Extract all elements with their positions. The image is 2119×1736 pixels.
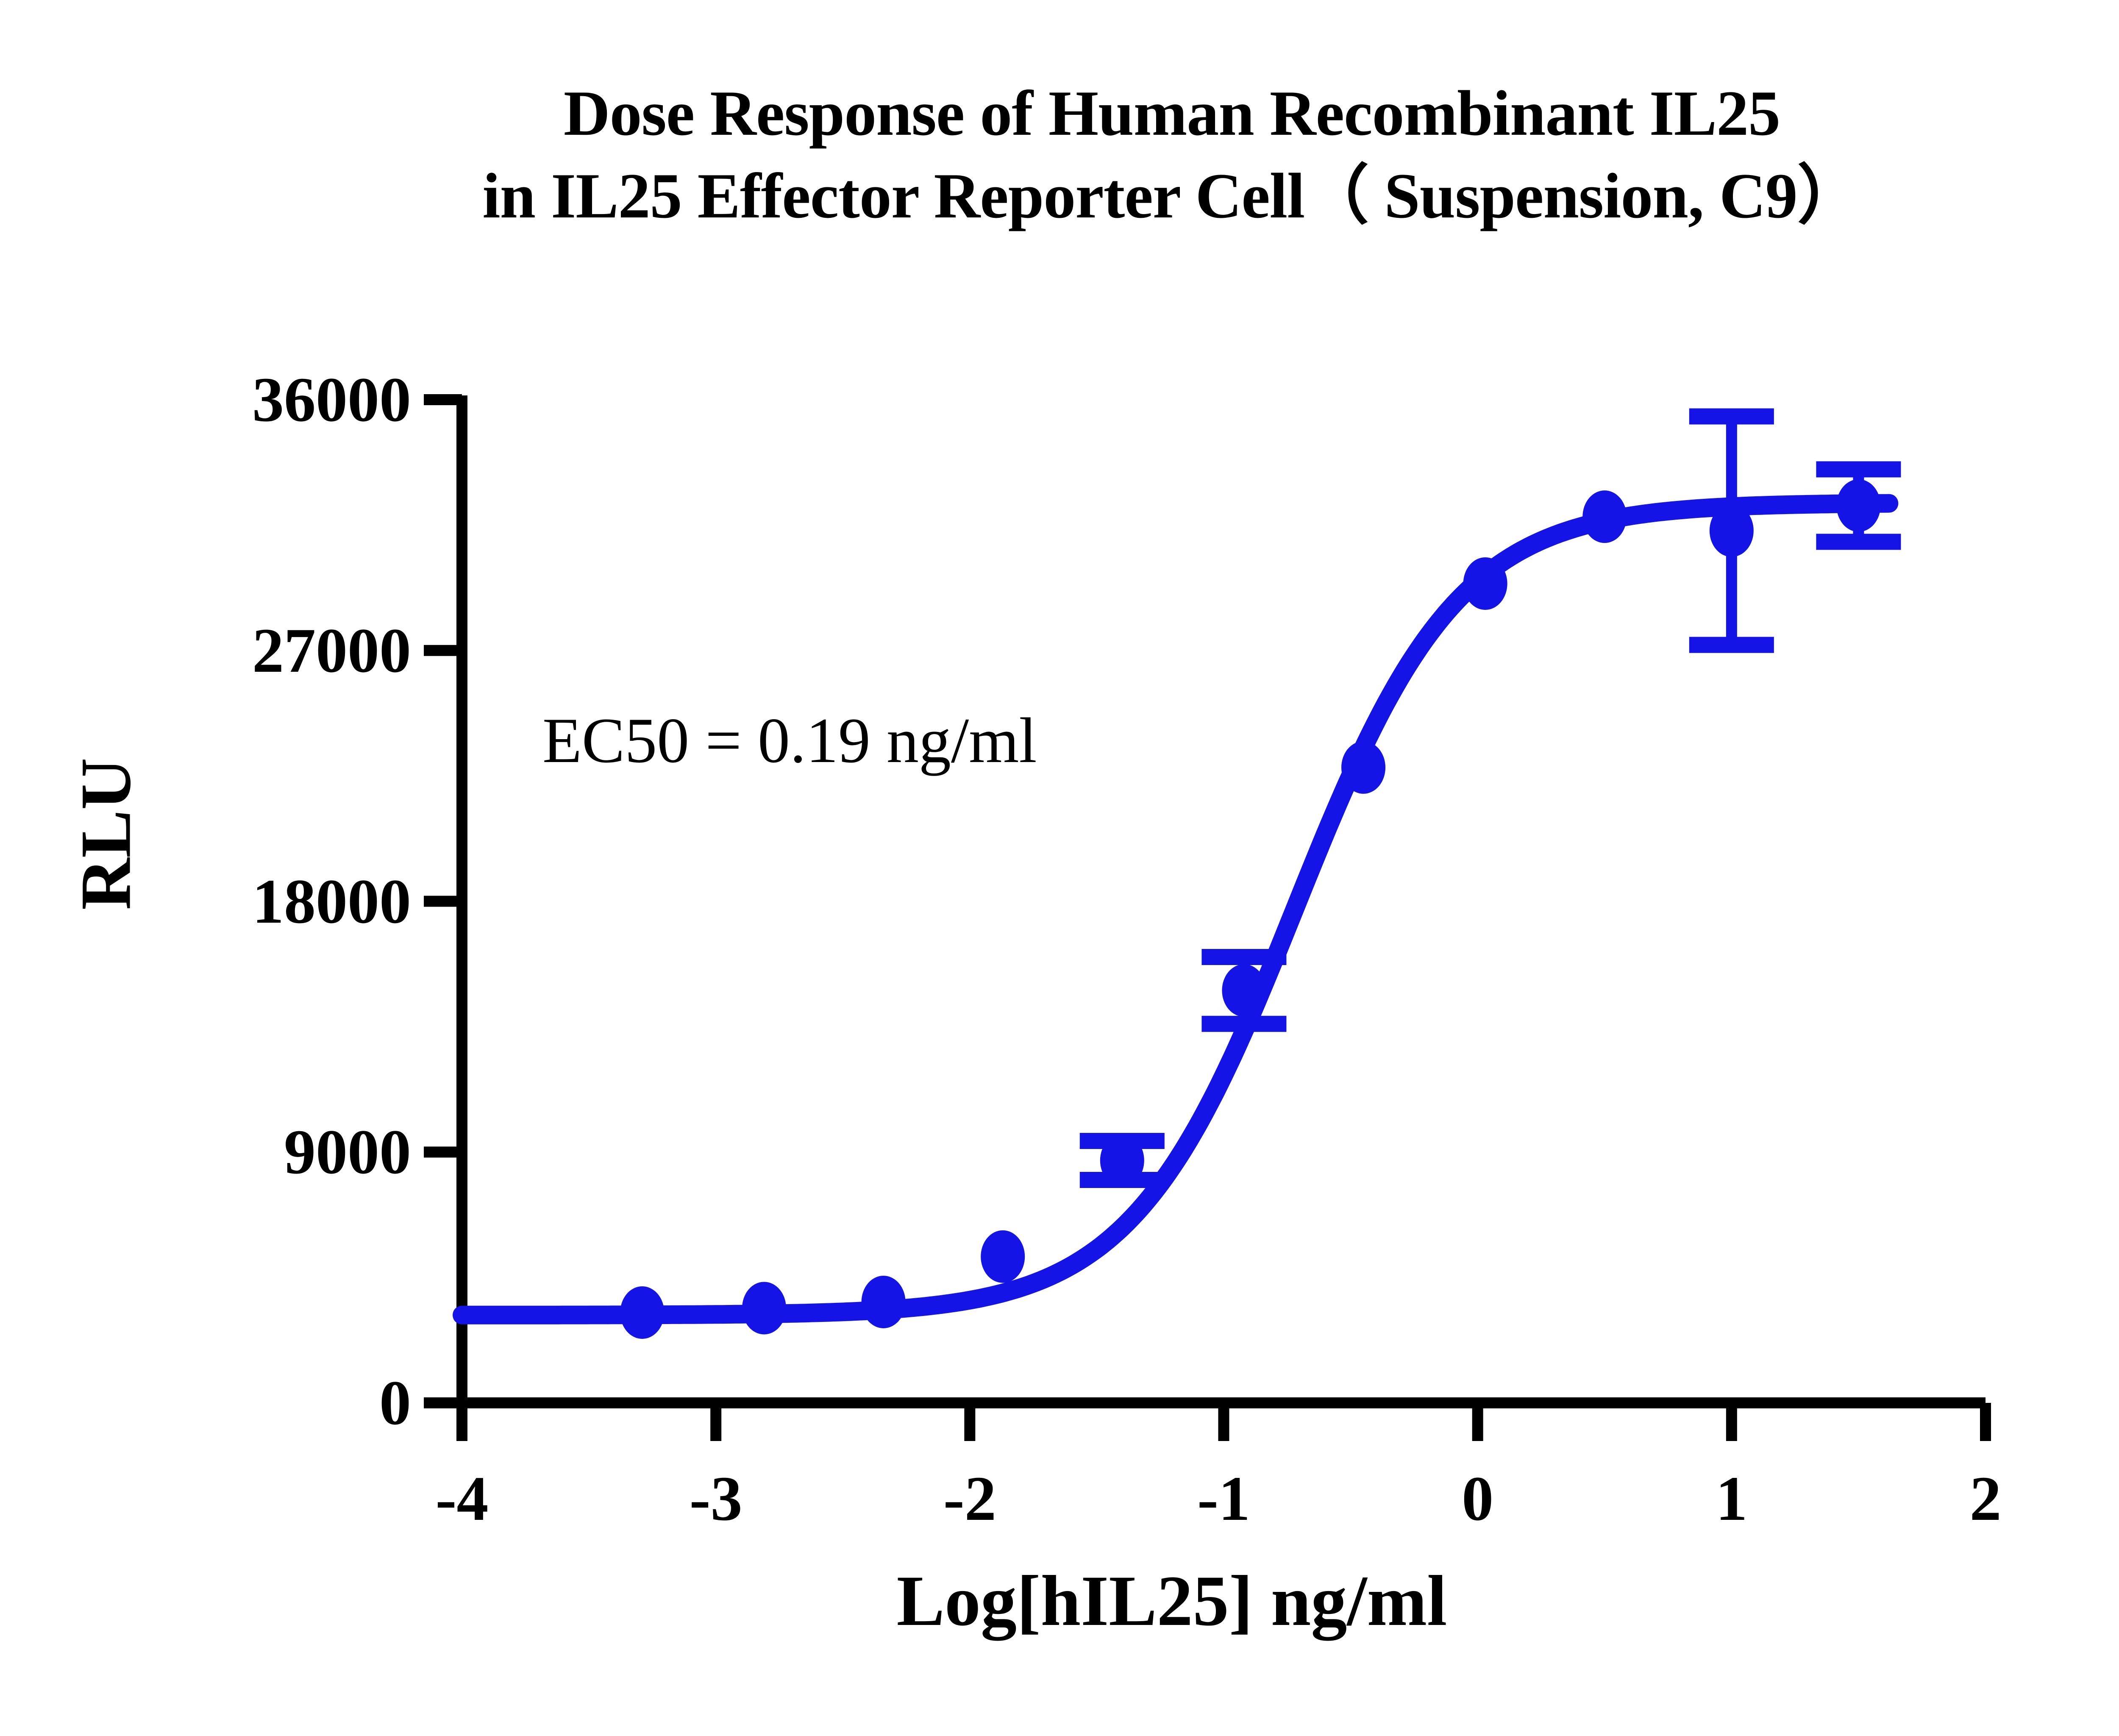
data-point <box>1836 479 1880 532</box>
y-axis-tick-label: 9000 <box>0 1116 411 1188</box>
data-point <box>1100 1134 1144 1187</box>
x-axis-tick-label: -3 <box>690 1462 742 1535</box>
y-axis-tick-label: 0 <box>0 1366 411 1439</box>
data-point <box>620 1286 664 1339</box>
data-point <box>862 1276 906 1328</box>
data-point <box>1341 741 1385 794</box>
data-point <box>1710 504 1754 557</box>
chart-figure: Dose Response of Human Recombinant IL25 … <box>0 0 2119 1736</box>
y-axis-tick-label: 27000 <box>0 614 411 687</box>
data-point <box>742 1282 786 1334</box>
data-point <box>1463 557 1507 610</box>
x-axis-tick-label: -2 <box>943 1462 996 1535</box>
y-axis-label: RLU <box>65 686 147 982</box>
data-point <box>1582 490 1627 543</box>
x-axis-tick-label: -4 <box>436 1462 489 1535</box>
x-axis-tick-label: 1 <box>1716 1462 1747 1535</box>
y-axis-tick-label: 36000 <box>0 363 411 436</box>
x-axis-label: Log[hIL25] ng/ml <box>0 1560 2119 1642</box>
y-axis-tick-label: 18000 <box>0 865 411 938</box>
ec50-annotation: EC50 = 0.19 ng/ml <box>542 704 1037 777</box>
data-point <box>981 1230 1025 1283</box>
x-axis-tick-label: -1 <box>1197 1462 1250 1535</box>
data-point <box>1222 964 1266 1017</box>
x-axis-tick-label: 0 <box>1462 1462 1493 1535</box>
x-axis-tick-label: 2 <box>1970 1462 2002 1535</box>
fit-curve <box>462 504 1889 1315</box>
